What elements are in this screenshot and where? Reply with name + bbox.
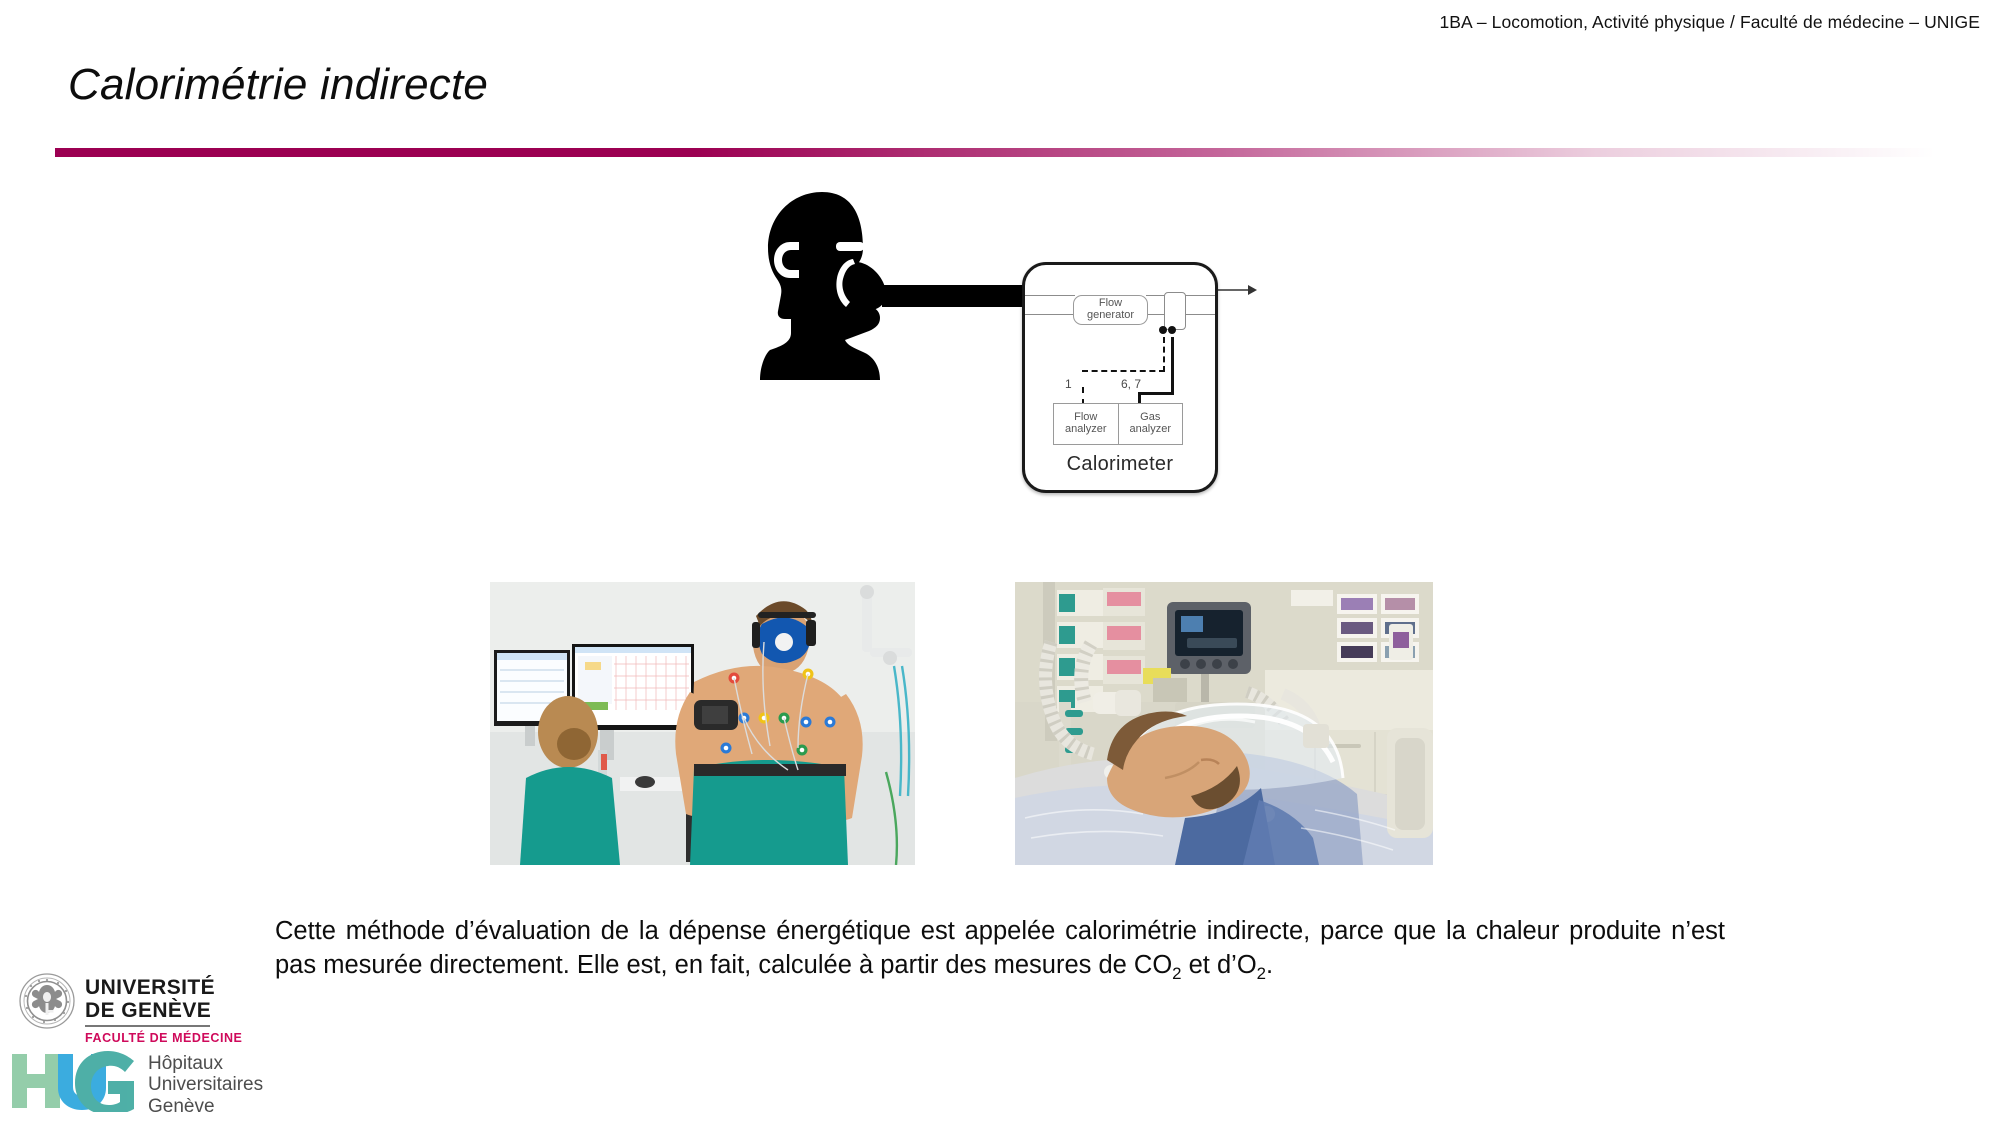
hug-mark-icon	[10, 1050, 136, 1112]
body-part-2: et d’O	[1182, 951, 1257, 979]
gas-analyzer-block: Gas analyzer	[1118, 404, 1183, 444]
flow-analyzer-block: Flow analyzer	[1054, 404, 1118, 444]
photo-exercise-stress-test-image	[490, 582, 915, 865]
signal-line-dashed-horizontal	[1082, 370, 1165, 372]
unige-seal-icon	[18, 972, 76, 1030]
unige-faculty-label: FACULTÉ DE MÉDECINE	[85, 1031, 242, 1045]
unige-wordmark: UNIVERSITÉ DE GENÈVE FACULTÉ DE MÉDECINE	[85, 972, 242, 1045]
signal-line-solid-vertical	[1171, 337, 1174, 394]
hug-line-2: Universitaires	[148, 1074, 263, 1095]
body-part-1: Cette méthode d’évaluation de la dépense…	[275, 917, 1725, 979]
body-subscript-1: 2	[1172, 964, 1181, 983]
unige-logo: UNIVERSITÉ DE GENÈVE FACULTÉ DE MÉDECINE	[18, 972, 242, 1045]
signal-node-dot-right	[1168, 326, 1176, 334]
breathing-tube-icon	[882, 285, 1027, 307]
analyzer-group: Flow analyzer Gas analyzer	[1053, 403, 1183, 445]
signal-label-right: 6, 7	[1121, 377, 1141, 391]
pipe-mid	[1146, 295, 1166, 315]
hug-line-3: Genève	[148, 1096, 263, 1117]
hug-wordmark: Hôpitaux Universitaires Genève	[148, 1050, 263, 1117]
signal-line-solid-horizontal	[1138, 392, 1174, 395]
title-divider-rule	[55, 148, 1935, 157]
valve-block	[1164, 292, 1186, 330]
calorimeter-label: Calorimeter	[1025, 453, 1215, 476]
unige-line-2: DE GENÈVE	[85, 999, 242, 1022]
arrow-right-icon-outlet	[1215, 282, 1257, 298]
body-subscript-2: 2	[1257, 964, 1266, 983]
slide-canvas: 1BA – Locomotion, Activité physique / Fa…	[0, 0, 2000, 1125]
signal-line-dashed-vertical-right	[1163, 337, 1165, 372]
unige-underline	[85, 1025, 210, 1027]
pipe-outlet	[1182, 295, 1215, 315]
course-header-note: 1BA – Locomotion, Activité physique / Fa…	[1439, 12, 1980, 33]
flow-generator-block: Flow generator	[1073, 295, 1148, 325]
signal-label-left: 1	[1065, 377, 1072, 391]
body-paragraph: Cette méthode d’évaluation de la dépense…	[275, 915, 1725, 985]
hug-logo: Hôpitaux Universitaires Genève	[10, 1050, 263, 1117]
pipe-inlet	[1025, 295, 1075, 315]
footer-logos: UNIVERSITÉ DE GENÈVE FACULTÉ DE MÉDECINE…	[10, 968, 300, 1120]
body-part-3: .	[1266, 951, 1273, 979]
indirect-calorimetry-diagram: Flow generator 1 6, 7 Flow analyzer Gas …	[760, 190, 1240, 500]
photo-canopy-hood-calorimetry	[1015, 582, 1433, 865]
calorimeter-enclosure: Flow generator 1 6, 7 Flow analyzer Gas …	[1022, 262, 1218, 493]
photo-exercise-stress-test	[490, 582, 915, 865]
page-title: Calorimétrie indirecte	[68, 63, 488, 107]
hug-line-1: Hôpitaux	[148, 1053, 263, 1074]
signal-node-dot-left	[1159, 326, 1167, 334]
unige-line-1: UNIVERSITÉ	[85, 976, 242, 999]
photo-canopy-hood-calorimetry-image	[1015, 582, 1433, 865]
